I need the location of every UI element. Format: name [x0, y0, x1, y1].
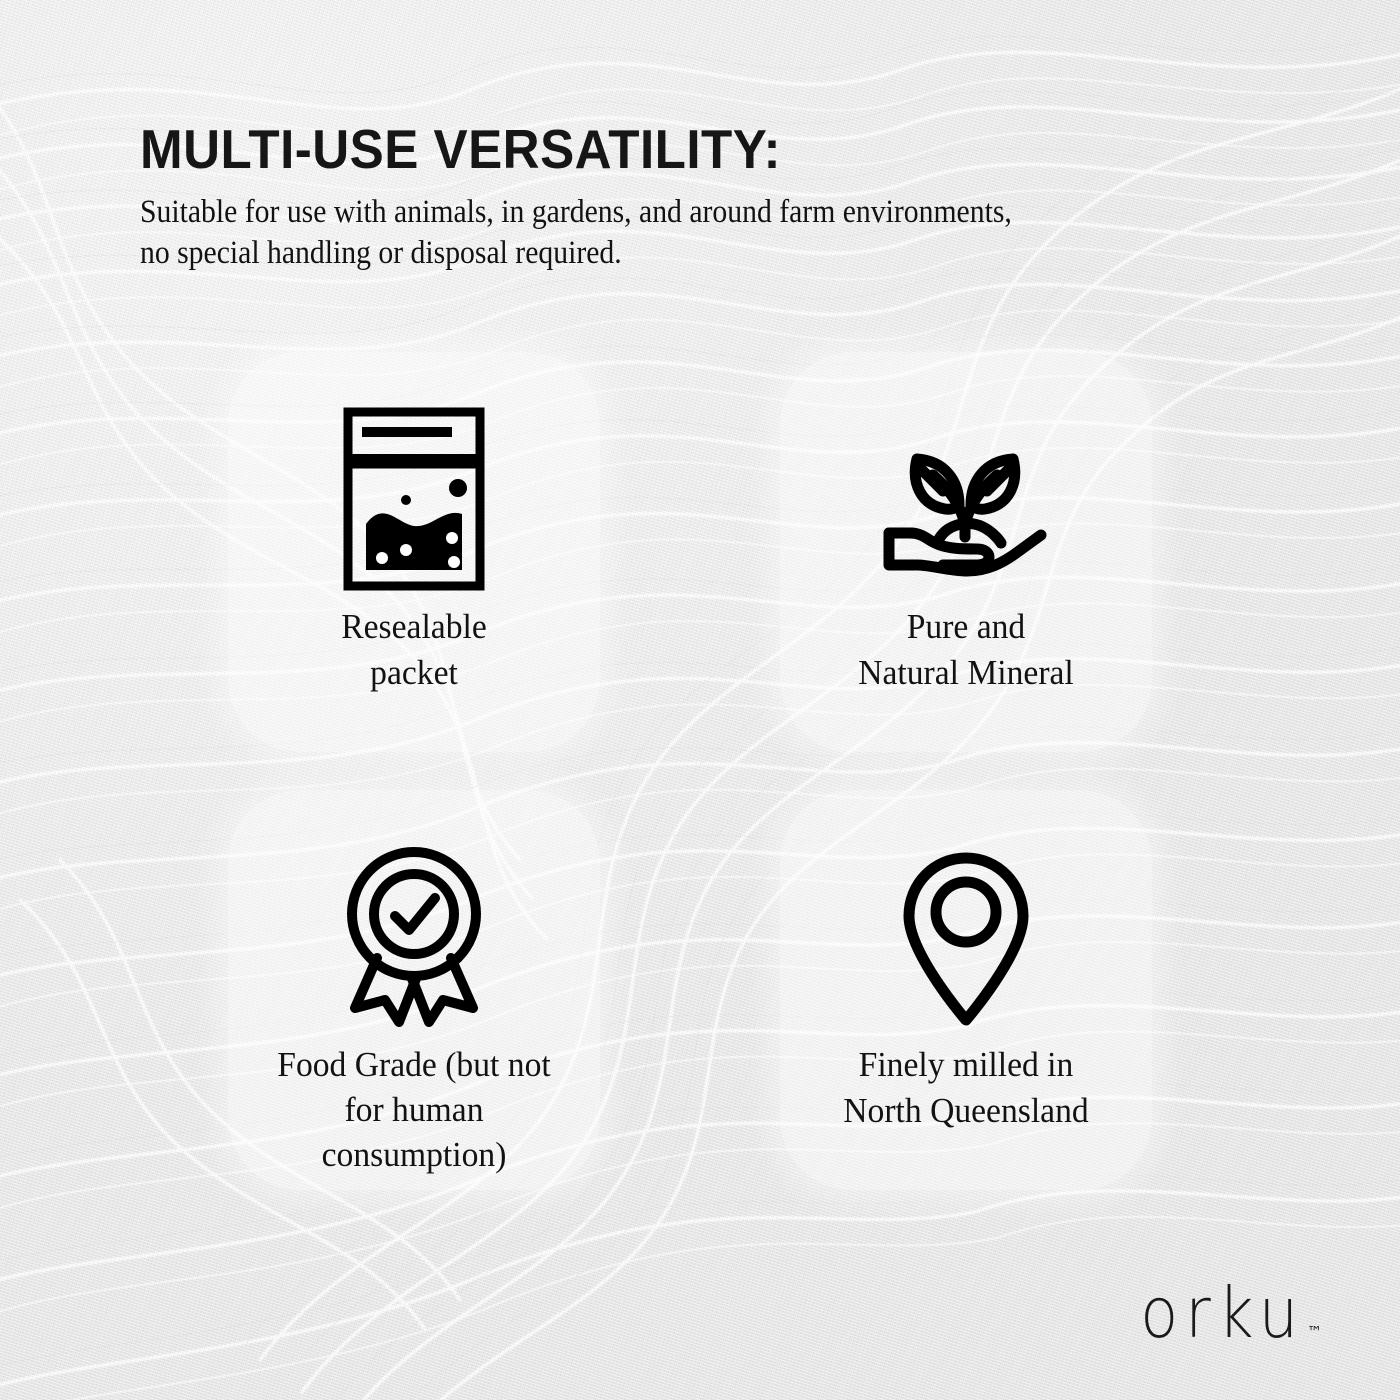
- feature-label-line-2: Natural Mineral: [858, 653, 1074, 692]
- feature-label-line-2: packet: [370, 653, 458, 692]
- brand-logo: orku ™: [1140, 1286, 1322, 1348]
- feature-label-line-2: North Queensland: [843, 1091, 1088, 1130]
- page-subtitle-line-2: no special handling or disposal required…: [140, 235, 622, 271]
- feature-card-resealable-packet: Resealable packet: [228, 352, 600, 752]
- feature-card-pure-natural-mineral: Pure and Natural Mineral: [780, 352, 1152, 752]
- feature-label-resealable-packet: Resealable packet: [236, 604, 591, 696]
- page-subtitle: Suitable for use with animals, in garden…: [140, 192, 1157, 274]
- feature-label-line-1: Food Grade (but not: [277, 1045, 550, 1084]
- feature-label-finely-milled: Finely milled in North Queensland: [788, 1042, 1143, 1134]
- page-title: MULTI-USE VERSATILITY:: [140, 120, 1191, 178]
- map-pin-icon: [891, 842, 1041, 1032]
- feature-label-line-2: for human: [344, 1090, 483, 1129]
- brand-wordmark: orku: [1140, 1279, 1305, 1348]
- award-badge-check-icon: [329, 842, 499, 1032]
- feature-label-food-grade: Food Grade (but not for human consumptio…: [236, 1042, 591, 1177]
- trademark-symbol: ™: [1307, 1325, 1322, 1340]
- resealable-packet-icon: [340, 404, 488, 594]
- header-block: MULTI-USE VERSATILITY: Suitable for use …: [140, 120, 1270, 274]
- feature-label-line-1: Pure and: [907, 607, 1026, 646]
- feature-label-line-3: consumption): [322, 1135, 507, 1174]
- feature-label-line-1: Finely milled in: [859, 1045, 1074, 1084]
- feature-card-food-grade: Food Grade (but not for human consumptio…: [228, 790, 600, 1190]
- feature-label-line-1: Resealable: [341, 607, 487, 646]
- feature-card-grid: Resealable packet: [228, 352, 1163, 1190]
- page-subtitle-line-1: Suitable for use with animals, in garden…: [140, 194, 1012, 230]
- sprout-in-hand-icon: [871, 404, 1061, 594]
- feature-card-finely-milled: Finely milled in North Queensland: [780, 790, 1152, 1190]
- feature-label-pure-natural-mineral: Pure and Natural Mineral: [788, 604, 1143, 696]
- infographic-page: MULTI-USE VERSATILITY: Suitable for use …: [0, 0, 1400, 1400]
